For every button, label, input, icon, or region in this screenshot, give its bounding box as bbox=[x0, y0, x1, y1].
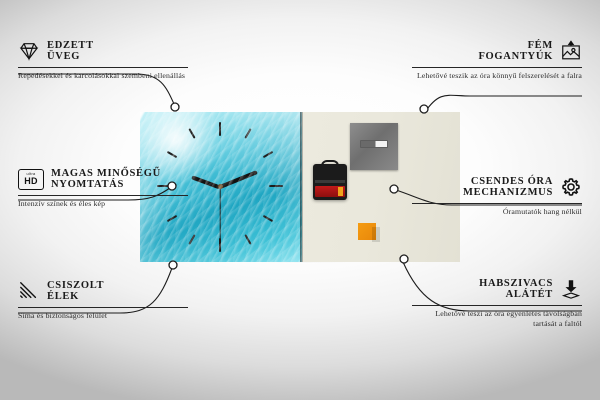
divider bbox=[412, 67, 582, 68]
divider bbox=[18, 195, 188, 196]
second-hand bbox=[219, 187, 220, 244]
feature-description: Sima és biztonságos felület bbox=[18, 311, 188, 322]
divider bbox=[18, 67, 188, 68]
panel-divider bbox=[300, 112, 303, 262]
feature-description: Óramutatók hang nélkül bbox=[412, 207, 582, 218]
feature-title-line1: CSENDES ÓRA bbox=[463, 176, 553, 187]
feature-fem-fogantyuk[interactable]: FÉM FOGANTYÚK Lehetővé teszik az óra kön… bbox=[412, 40, 582, 81]
minute-hand bbox=[191, 176, 220, 190]
feature-title-line2: NYOMTATÁS bbox=[51, 179, 161, 190]
feature-csendes-ora-mechanizmus[interactable]: CSENDES ÓRA MECHANIZMUS Óramutatók hang … bbox=[412, 176, 582, 217]
feature-title-line2: ÜVEG bbox=[47, 51, 94, 62]
hanger-slot bbox=[360, 140, 388, 148]
infographic-canvas: EDZETT ÜVEG Repedésekkel és karcolásokka… bbox=[0, 0, 600, 400]
feature-csiszolt-elek[interactable]: CSISZOLT ÉLEK Sima és biztonságos felüle… bbox=[18, 280, 188, 321]
feature-habszivacs-alatet[interactable]: HABSZIVACS ALÁTÉT Lehetővé teszi az óra … bbox=[412, 278, 582, 330]
gear-icon bbox=[560, 176, 582, 198]
feature-title-line1: HABSZIVACS bbox=[479, 278, 553, 289]
feature-title-line1: MAGAS MINŐSÉGŰ bbox=[51, 168, 161, 179]
hanging-frame-icon bbox=[560, 40, 582, 62]
feature-edzett-uveg[interactable]: EDZETT ÜVEG Repedésekkel és karcolásokka… bbox=[18, 40, 188, 81]
feature-title-line2: ÉLEK bbox=[47, 291, 104, 302]
divider bbox=[412, 305, 582, 306]
foam-pad-arrow-icon bbox=[560, 278, 582, 300]
battery bbox=[315, 186, 345, 197]
feature-title-line1: FÉM bbox=[478, 40, 553, 51]
mechanism-hook bbox=[321, 160, 339, 170]
feature-description: Repedésekkel és karcolásokkal szembeni e… bbox=[18, 71, 188, 82]
feature-description: Lehetővé teszi az óra egyenletes távolsá… bbox=[412, 309, 582, 331]
feature-description: Lehetővé teszik az óra könnyű felszerelé… bbox=[412, 71, 582, 82]
feature-title-line2: ALÁTÉT bbox=[479, 289, 553, 300]
feature-title-line1: EDZETT bbox=[47, 40, 94, 51]
feature-magas-minosegu-nyomtatas[interactable]: ultra HD MAGAS MINŐSÉGŰ NYOMTATÁS Intenz… bbox=[18, 168, 188, 209]
clock-hub bbox=[218, 184, 223, 189]
mechanism-seam bbox=[315, 180, 345, 183]
ultra-hd-main-text: HD bbox=[24, 177, 37, 186]
clock-mechanism bbox=[313, 164, 347, 200]
connector-fem-fogantyuk bbox=[425, 95, 582, 112]
polished-edges-icon bbox=[18, 280, 40, 302]
diamond-icon bbox=[18, 40, 40, 62]
ultra-hd-badge-icon: ultra HD bbox=[18, 169, 44, 190]
feature-title-line2: FOGANTYÚK bbox=[478, 51, 553, 62]
metal-hanger-plate bbox=[350, 123, 398, 170]
hour-hand bbox=[219, 170, 258, 189]
connector-dot-edzett-uveg bbox=[171, 103, 179, 111]
divider bbox=[18, 307, 188, 308]
feature-description: Intenzív színek és éles kép bbox=[18, 199, 188, 210]
foam-pad bbox=[358, 223, 376, 240]
feature-title-line2: MECHANIZMUS bbox=[463, 187, 553, 198]
divider bbox=[412, 203, 582, 204]
feature-title-line1: CSISZOLT bbox=[47, 280, 104, 291]
